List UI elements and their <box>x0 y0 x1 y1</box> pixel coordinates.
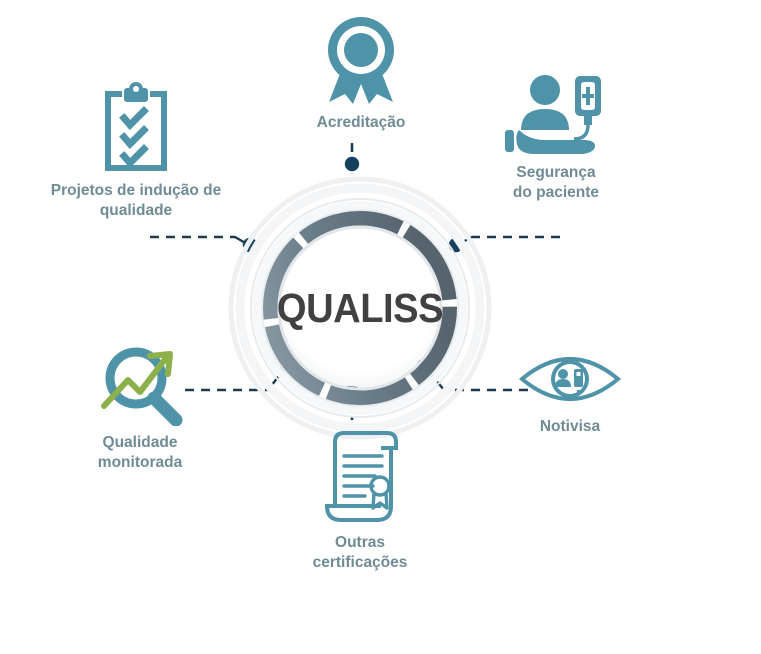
magnifier-growth-chart-icon <box>94 344 186 426</box>
infographic-canvas: QUALISS Acreditação <box>0 0 761 654</box>
clipboard-checklist-icon <box>98 82 174 174</box>
node-projetos-label: Projetos de indução de qualidade <box>51 181 222 222</box>
node-notivisa[interactable]: Notivisa <box>494 348 646 437</box>
node-outras-certificacoes[interactable]: Outras certificações <box>276 428 444 574</box>
eye-surveillance-icon <box>518 348 622 410</box>
node-acreditacao[interactable]: Acreditação <box>281 14 441 133</box>
node-qualidade-label: Qualidade monitorada <box>98 433 182 474</box>
award-ribbon-icon <box>319 14 403 106</box>
node-dot-top <box>345 157 359 171</box>
hub-qualiss: QUALISS <box>228 176 492 440</box>
hand-patient-iv-icon <box>497 72 615 156</box>
node-seguranca-do-paciente[interactable]: Segurança do paciente <box>474 72 638 204</box>
certificate-scroll-icon <box>315 428 405 526</box>
node-acreditacao-label: Acreditação <box>317 113 406 133</box>
hub-title: QUALISS <box>237 176 483 440</box>
node-projetos-de-inducao-de-qualidade[interactable]: Projetos de indução de qualidade <box>28 82 244 222</box>
node-notivisa-label: Notivisa <box>540 417 600 437</box>
node-seguranca-label: Segurança do paciente <box>513 163 599 204</box>
node-qualidade-monitorada[interactable]: Qualidade monitorada <box>64 344 216 474</box>
node-outras-label: Outras certificações <box>313 533 408 574</box>
